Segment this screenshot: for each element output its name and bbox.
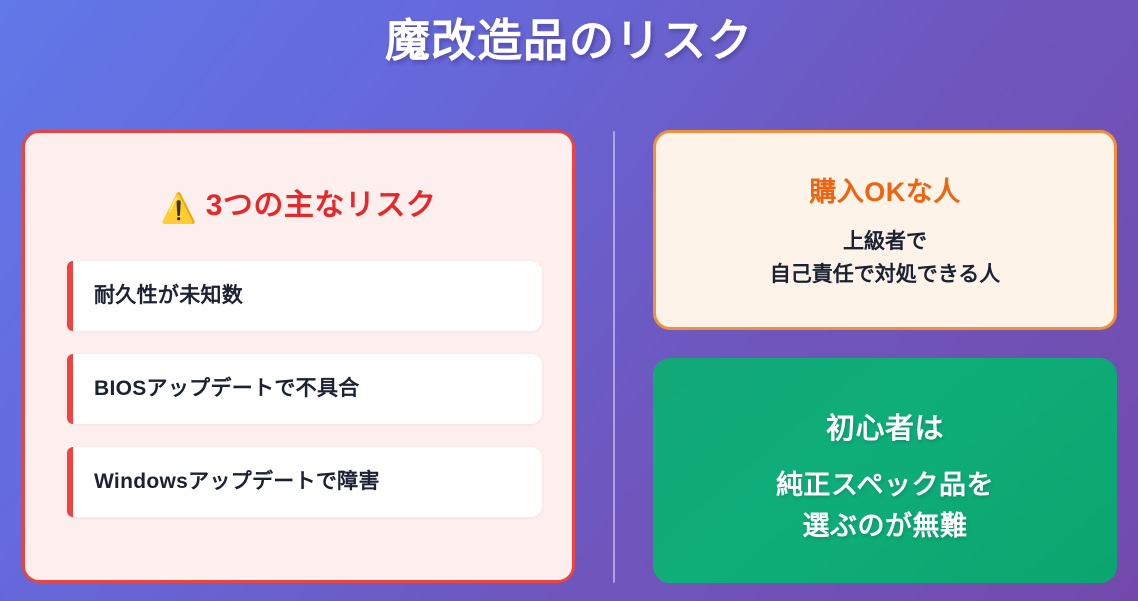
list-item-label: Windowsアップデートで障害 <box>94 447 380 517</box>
risk-card-header: ⚠️3つの主なリスク <box>25 180 572 226</box>
purchase-ok-body-line-1: 上級者で <box>656 226 1114 259</box>
slide-canvas: 魔改造品のリスク ⚠️3つの主なリスク 耐久性が未知数 BIOSアップデートで不… <box>0 0 1138 601</box>
beginner-body-line-2: 選ぶのが無難 <box>653 506 1117 547</box>
accent-bar <box>67 447 73 517</box>
list-item[interactable]: BIOSアップデートで不具合 <box>67 354 542 424</box>
beginner-card: 初心者は 純正スペック品を 選ぶのが無難 <box>653 358 1117 583</box>
purchase-ok-card-body: 上級者で 自己責任で対処できる人 <box>656 226 1114 291</box>
list-item[interactable]: 耐久性が未知数 <box>67 261 542 331</box>
beginner-body-line-1: 純正スペック品を <box>653 465 1117 506</box>
page-title: 魔改造品のリスク <box>0 14 1138 68</box>
risk-card: ⚠️3つの主なリスク 耐久性が未知数 BIOSアップデートで不具合 Window… <box>22 130 575 583</box>
accent-bar <box>67 354 73 424</box>
risk-list: 耐久性が未知数 BIOSアップデートで不具合 Windowsアップデートで障害 <box>67 261 542 540</box>
risk-card-title: 3つの主なリスク <box>206 189 437 222</box>
purchase-ok-card: 購入OKな人 上級者で 自己責任で対処できる人 <box>653 130 1117 330</box>
purchase-ok-card-title: 購入OKな人 <box>656 170 1114 209</box>
list-item-label: 耐久性が未知数 <box>94 261 243 331</box>
accent-bar <box>67 261 73 331</box>
column-divider <box>613 131 615 583</box>
beginner-card-title: 初心者は <box>653 405 1117 447</box>
warning-triangle-icon: ⚠️ <box>161 193 197 225</box>
list-item[interactable]: Windowsアップデートで障害 <box>67 447 542 517</box>
list-item-label: BIOSアップデートで不具合 <box>94 354 360 424</box>
purchase-ok-body-line-2: 自己責任で対処できる人 <box>656 259 1114 292</box>
beginner-card-body: 純正スペック品を 選ぶのが無難 <box>653 465 1117 546</box>
